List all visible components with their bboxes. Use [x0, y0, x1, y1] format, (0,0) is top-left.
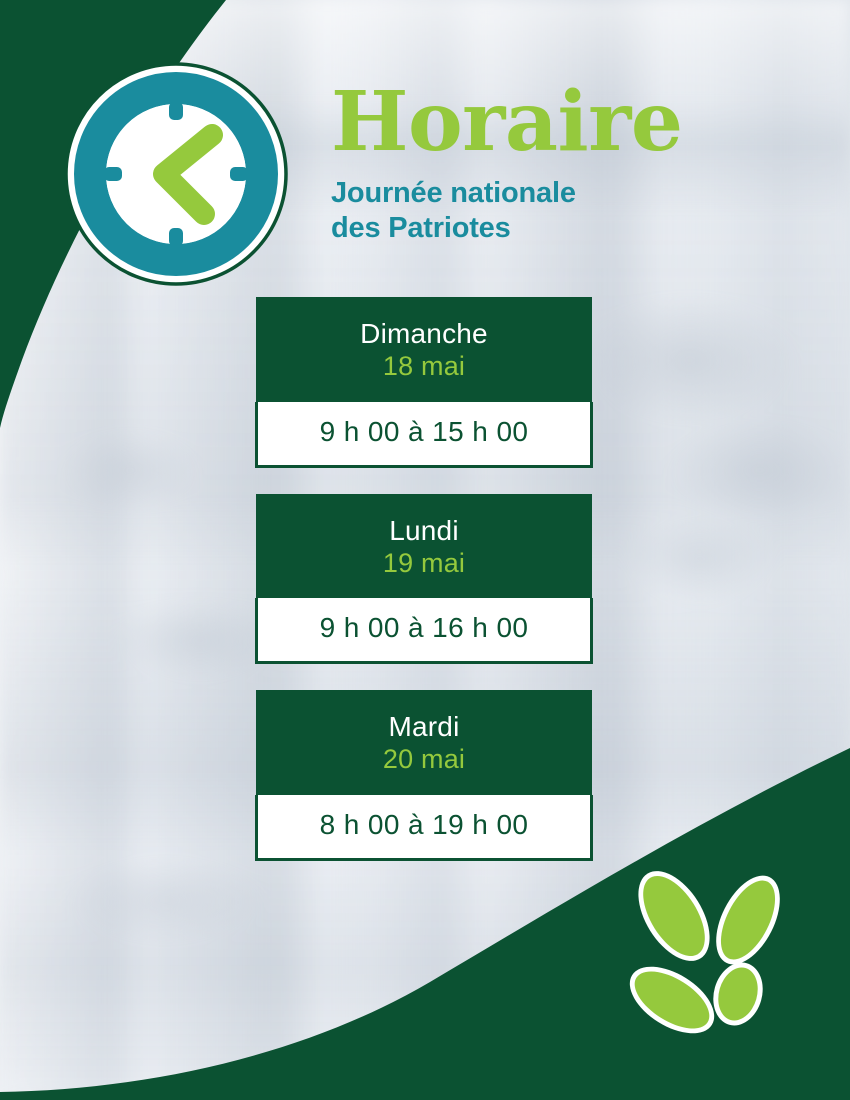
schedule-card: Lundi 19 mai 9 h 00 à 16 h 00 [256, 494, 592, 665]
subtitle-line-1: Journée nationale [331, 176, 661, 211]
schedule-hours-box: 8 h 00 à 19 h 00 [255, 795, 593, 861]
schedule-day-label: Lundi [266, 514, 582, 547]
schedule-date-label: 19 mai [266, 547, 582, 581]
clock-icon [64, 62, 288, 286]
schedule-day-label: Dimanche [266, 317, 582, 350]
schedule-poster: Horaire Journée nationale des Patriotes … [0, 0, 850, 1100]
schedule-card-list: Dimanche 18 mai 9 h 00 à 15 h 00 Lundi 1… [0, 297, 850, 887]
clock-tick-6 [169, 228, 183, 246]
schedule-hours-label: 9 h 00 à 15 h 00 [268, 417, 580, 448]
subtitle-line-2: des Patriotes [331, 211, 661, 246]
page-subtitle: Journée nationale des Patriotes [331, 176, 661, 247]
butterfly-logo-icon [612, 858, 812, 1058]
schedule-day-label: Mardi [266, 710, 582, 743]
butterfly-petal-top-left [624, 859, 724, 973]
schedule-card-header: Dimanche 18 mai [256, 297, 592, 402]
schedule-date-label: 18 mai [266, 350, 582, 384]
clock-tick-12 [169, 102, 183, 120]
butterfly-petal-bottom-left [618, 953, 725, 1047]
schedule-hours-label: 8 h 00 à 19 h 00 [268, 810, 580, 841]
page-title: Horaire [331, 84, 831, 162]
clock-tick-9 [104, 167, 122, 181]
clock-tick-3 [230, 167, 248, 181]
schedule-card-header: Lundi 19 mai [256, 494, 592, 599]
schedule-hours-box: 9 h 00 à 15 h 00 [255, 402, 593, 468]
butterfly-petal-bottom-right [706, 957, 770, 1032]
butterfly-petal-top-right [703, 865, 793, 974]
schedule-card: Mardi 20 mai 8 h 00 à 19 h 00 [256, 690, 592, 861]
schedule-hours-label: 9 h 00 à 16 h 00 [268, 613, 580, 644]
poster-header: Horaire Journée nationale des Patriotes [0, 0, 850, 290]
schedule-card: Dimanche 18 mai 9 h 00 à 15 h 00 [256, 297, 592, 468]
title-block: Horaire Journée nationale des Patriotes [331, 84, 831, 247]
schedule-date-label: 20 mai [266, 743, 582, 777]
schedule-hours-box: 9 h 00 à 16 h 00 [255, 598, 593, 664]
schedule-card-header: Mardi 20 mai [256, 690, 592, 795]
